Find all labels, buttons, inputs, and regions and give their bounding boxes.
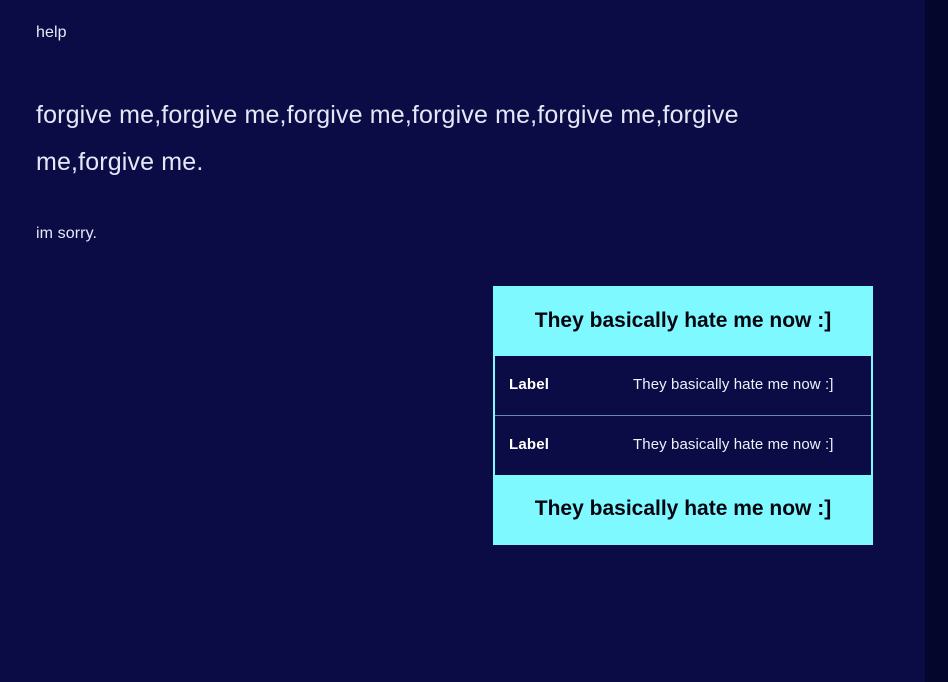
hate-card: They basically hate me now :] Label They… [493,286,873,545]
vertical-scrollbar[interactable] [925,0,948,682]
row-value: They basically hate me now :] [633,432,857,457]
content-column: help forgive me,forgive me,forgive me,fo… [0,0,925,682]
page-root: help forgive me,forgive me,forgive me,fo… [0,0,948,682]
table-row: Label They basically hate me now :] [495,416,871,475]
note-sorry: im sorry. [36,224,97,243]
note-help: help [36,23,67,42]
note-forgive: forgive me,forgive me,forgive me,forgive… [36,92,836,186]
card-footer-title: They basically hate me now :] [495,475,871,543]
row-label: Label [509,372,633,397]
row-label: Label [509,432,633,457]
card-header-title: They basically hate me now :] [495,288,871,356]
row-value: They basically hate me now :] [633,372,857,397]
table-row: Label They basically hate me now :] [495,356,871,416]
